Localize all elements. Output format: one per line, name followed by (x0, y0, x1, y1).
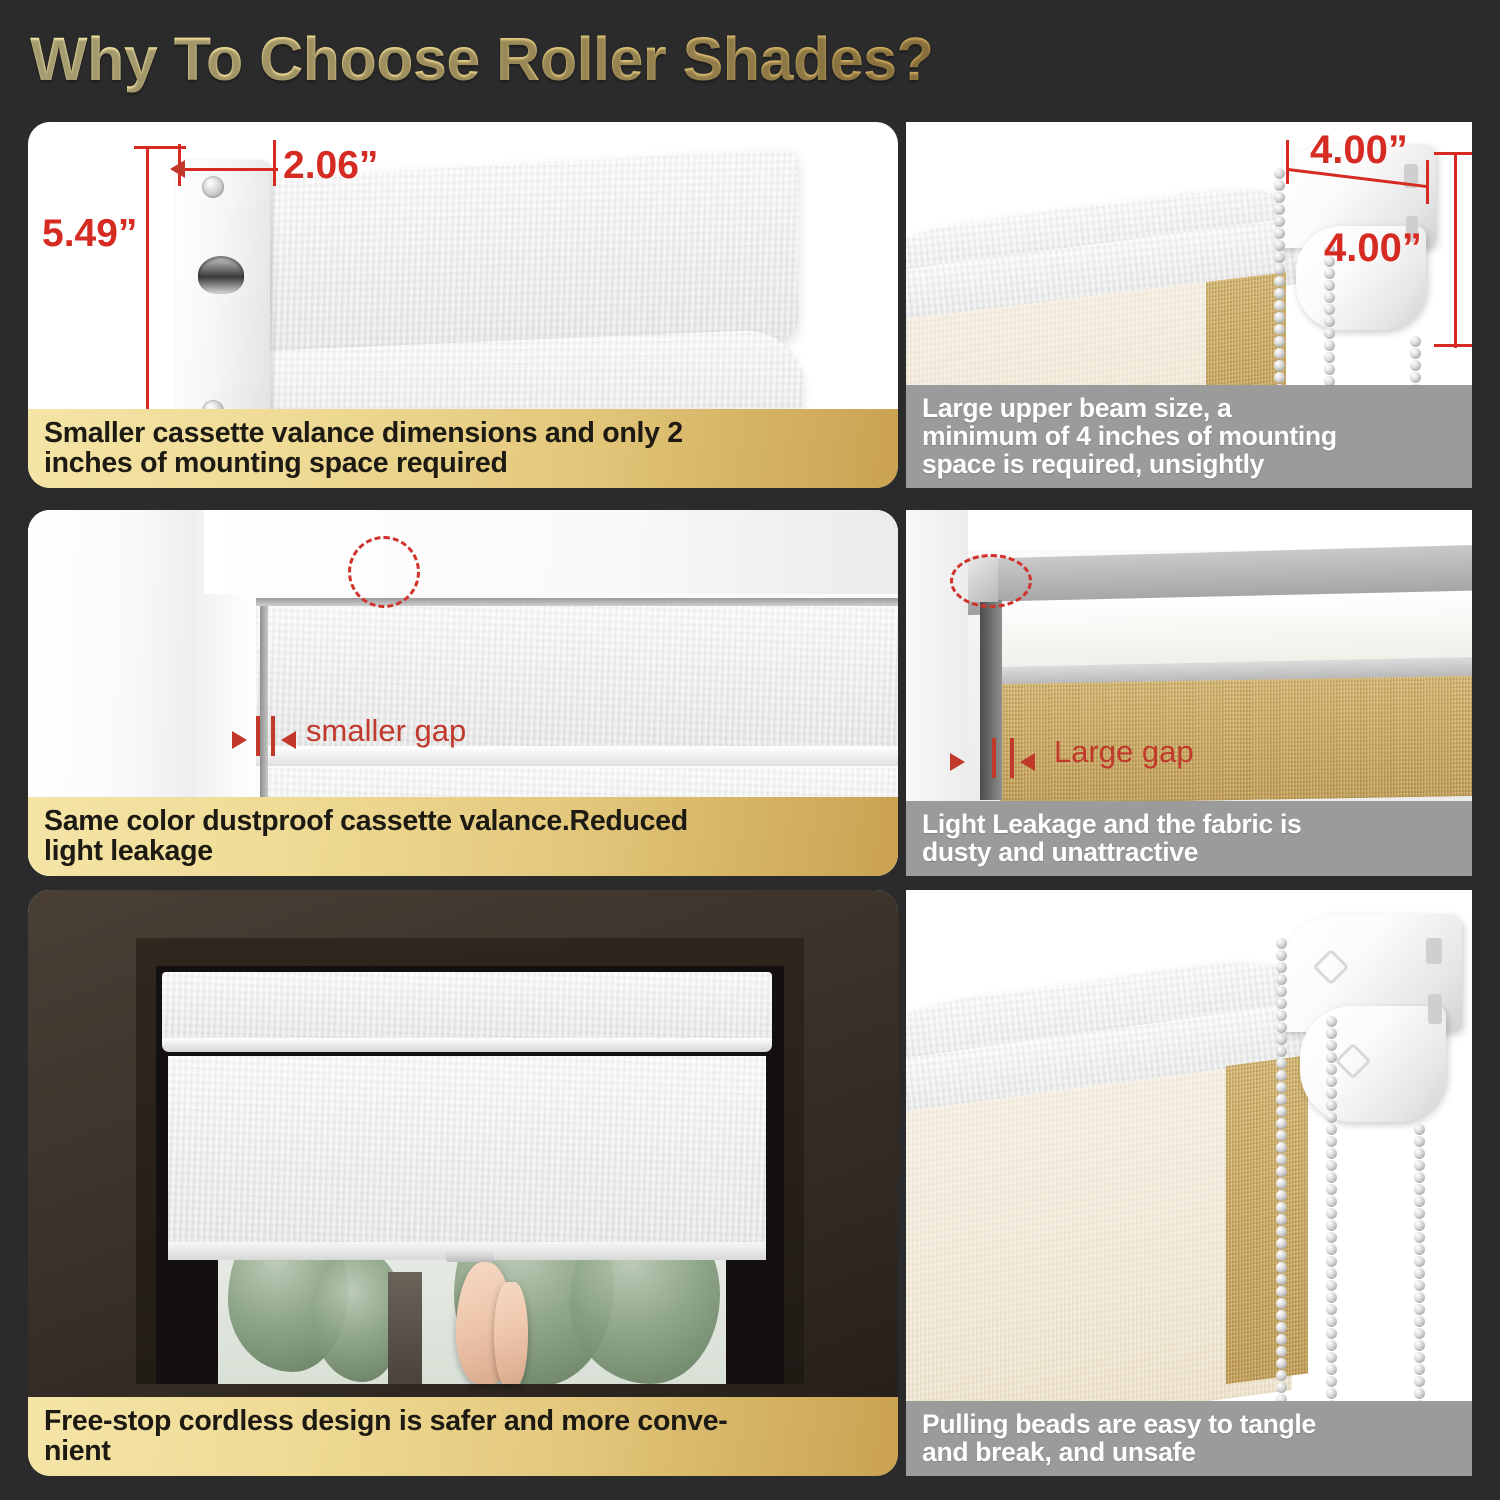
caption-line: Same color dustproof cassette valance.Re… (44, 806, 884, 836)
bracket-notch-top (1426, 938, 1442, 964)
caption-line: dusty and unattractive (922, 838, 1458, 866)
gap-arrow-right (281, 731, 296, 749)
beam-height-label: 4.00” (1324, 226, 1422, 271)
bead-chain-front[interactable] (1276, 938, 1287, 1466)
caption-line: inches of mounting space required (44, 448, 884, 478)
beam-height-tick-bottom (1434, 344, 1472, 347)
panel-pulling-beads: Pulling beads are easy to tangle and bre… (906, 890, 1472, 1476)
pull-handle[interactable] (446, 1250, 494, 1262)
panel-smaller-cassette-valance: 2.06” 5.49” Smaller cassette valance dim… (28, 122, 898, 488)
panel-5-photo (28, 890, 898, 1476)
gap-marker-left (992, 738, 996, 778)
page-title: Why To Choose Roller Shades? (30, 24, 933, 94)
panel-2-caption: Large upper beam size, a minimum of 4 in… (906, 385, 1472, 488)
ceiling-area (906, 510, 1472, 550)
gap-marker-left (256, 716, 260, 756)
shade-fabric (168, 1056, 766, 1250)
panel-5-caption: Free-stop cordless design is safer and m… (28, 1397, 898, 1476)
beam-width-label: 4.00” (1310, 128, 1408, 173)
width-dim-arrow-left (170, 160, 185, 178)
gap-highlight-circle (348, 536, 420, 608)
beam-height-dim-line (1454, 152, 1457, 348)
height-dimension-label: 5.49” (42, 212, 137, 256)
caption-line: minimum of 4 inches of mounting (922, 422, 1458, 450)
gap-arrow-right (1020, 753, 1035, 771)
forearm (494, 1282, 528, 1384)
bead-chain-middle[interactable] (1326, 1016, 1337, 1460)
smaller-gap-label: smaller gap (306, 713, 466, 749)
valance-lower-rail (162, 1038, 772, 1052)
valance-top-edge (256, 598, 898, 606)
roller-bracket-lower (1300, 1006, 1446, 1122)
caption-line: Smaller cassette valance dimensions and … (44, 418, 884, 448)
width-dimension-label: 2.06” (283, 144, 378, 188)
caption-line: space is required, unsightly (922, 450, 1458, 478)
beam-width-tick-right (1426, 160, 1429, 204)
bead-chain-rear[interactable] (1414, 1124, 1425, 1436)
panel-light-leakage: Large gap Light Leakage and the fabric i… (906, 510, 1472, 876)
gap-marker-right (271, 716, 275, 756)
window-frame-top (204, 510, 898, 594)
panel-4-caption: Light Leakage and the fabric is dusty an… (906, 801, 1472, 876)
panel-6-photo (906, 890, 1472, 1476)
bracket-notch-bottom (1428, 994, 1442, 1024)
gap-arrow-left (950, 753, 965, 771)
rear-fabric-panel (1226, 1055, 1308, 1384)
large-gap-shadow (980, 600, 1002, 800)
bracket-slot (198, 256, 244, 294)
width-dim-line (178, 168, 278, 171)
gap-arrow-left (232, 731, 247, 749)
panel-1-caption: Smaller cassette valance dimensions and … (28, 409, 898, 488)
panel-dustproof-cassette-valance: smaller gap Same color dustproof cassett… (28, 510, 898, 876)
caption-line: and break, and unsafe (922, 1438, 1458, 1466)
caption-line: nient (44, 1436, 884, 1466)
cassette-valance (162, 972, 772, 1046)
valance-bottom-lip (256, 746, 898, 766)
caption-line: Pulling beads are easy to tangle (922, 1410, 1458, 1438)
beam-width-tick-left (1286, 140, 1289, 184)
panel-6-caption: Pulling beads are easy to tangle and bre… (906, 1401, 1472, 1476)
beam-height-tick-top (1434, 152, 1472, 155)
panel-3-caption: Same color dustproof cassette valance.Re… (28, 797, 898, 876)
panel-free-stop-cordless: Free-stop cordless design is safer and m… (28, 890, 898, 1476)
caption-line: Large upper beam size, a (922, 394, 1458, 422)
bracket-screw-top (202, 176, 224, 198)
caption-line: Free-stop cordless design is safer and m… (44, 1406, 884, 1436)
caption-line: Light Leakage and the fabric is (922, 810, 1458, 838)
gap-highlight-circle (950, 554, 1032, 608)
tree-trunk (388, 1272, 422, 1384)
width-dim-tick-right (273, 140, 276, 186)
panel-large-upper-beam: 4.00” 4.00” Large upper beam size, a min… (906, 122, 1472, 488)
caption-line: light leakage (44, 836, 884, 866)
large-gap-label: Large gap (1054, 734, 1194, 770)
gap-marker-right (1010, 738, 1014, 778)
height-dim-tick-top (134, 146, 186, 149)
